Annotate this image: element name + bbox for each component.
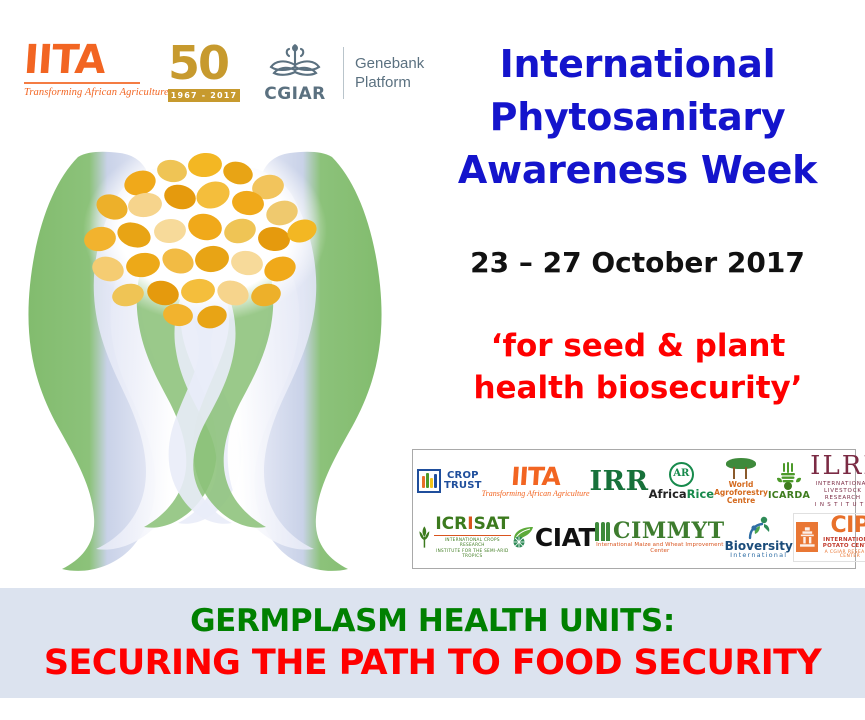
icrisat-part-a: ICR <box>435 514 467 534</box>
anniversary-50-logo: 50 1967 - 2017 <box>168 40 240 106</box>
icrisat-sub2: INSTITUTE FOR THE SEMI-ARID TROPICS <box>436 548 509 558</box>
partner-logo-icarda: ICARDA <box>768 454 810 509</box>
partner-logo-irri: IRR <box>590 454 649 509</box>
poster-canvas: IITA Transforming African Agriculture 50… <box>0 0 865 720</box>
irri-wordmark: IRR <box>590 468 649 495</box>
tagline-line-2: health biosecurity’ <box>412 367 864 409</box>
world-agroforestry-label: World Agroforestry Centre <box>714 481 768 505</box>
cimmyt-subtitle: International Maize and Wheat Improvemen… <box>595 543 725 554</box>
cgiar-divider <box>343 47 344 99</box>
iita-underline-rule <box>24 82 140 84</box>
partner-logo-cimmyt: CIMMYT International Maize and Wheat Imp… <box>595 510 725 565</box>
headline-line-3: Awareness Week <box>410 144 865 197</box>
iita-wordmark: IITA <box>23 40 144 80</box>
bottom-banner: GERMPLASM HEALTH UNITS: SECURING THE PAT… <box>0 588 865 698</box>
poster-tagline: ‘for seed & plant health biosecurity’ <box>412 325 864 409</box>
icrisat-wordmark: ICRISAT <box>435 516 509 533</box>
iita-logo: IITA Transforming African Agriculture <box>24 40 142 102</box>
cip-research-center-label: A CGIAR RESEARCH CENTER <box>820 551 865 560</box>
ilri-sub2: LIVESTOCK RESEARCH <box>824 488 862 501</box>
partner-logo-ciat: CIAT <box>511 510 595 565</box>
partner-logos-panel: CROP TRUST IITA Transforming African Agr… <box>412 449 856 569</box>
icrisat-sub1: INTERNATIONAL CROPS RESEARCH <box>445 537 500 547</box>
headline-line-2: Phytosanitary <box>410 91 865 144</box>
partner-logo-iita: IITA Transforming African Agriculture <box>482 454 590 509</box>
icarda-wheat-icon <box>776 462 802 490</box>
cgiar-genebank-platform-logo: CGIAR Genebank Platform <box>258 40 424 106</box>
icarda-wordmark: ICARDA <box>768 491 810 501</box>
ilri-sub3: I N S T I T U T E <box>815 502 865 508</box>
bioversity-line2: International <box>730 552 787 559</box>
cip-wordmark: CIP <box>830 515 865 537</box>
africa-rice-icon: AR <box>669 462 694 487</box>
bioversity-line1: Bioversity <box>725 540 793 552</box>
waf-line3: Centre <box>727 496 755 505</box>
banner-line-1: GERMPLASM HEALTH UNITS: <box>190 601 675 641</box>
cip-sub1: INTERNATIONAL <box>823 537 865 543</box>
iita-partner-wordmark: IITA <box>510 465 561 489</box>
crop-trust-icon <box>417 469 441 493</box>
cgiar-wheat-icon <box>269 43 321 83</box>
africa-rice-label: AfricaRice <box>649 489 715 501</box>
anniversary-years: 1967 - 2017 <box>168 89 240 102</box>
ilri-sub1: INTERNATIONAL <box>816 481 865 487</box>
ciat-leaf-globe-icon <box>511 526 535 548</box>
partner-logo-icrisat: ICRISAT INTERNATIONAL CROPS RESEARCH INS… <box>417 510 511 565</box>
cimmyt-wordmark: CIMMYT <box>613 520 725 542</box>
headline-line-1: International <box>410 38 865 91</box>
partner-logo-crop-trust: CROP TRUST <box>417 454 482 509</box>
cupped-hands-maize-illustration <box>0 135 410 585</box>
acacia-tree-icon <box>724 458 758 480</box>
partner-logo-world-agroforestry: World Agroforestry Centre <box>714 454 768 509</box>
top-logo-strip: IITA Transforming African Agriculture 50… <box>0 0 410 130</box>
anniversary-number: 50 <box>168 40 240 86</box>
cip-subtitle: INTERNATIONAL POTATO CENTER <box>823 537 865 550</box>
tagline-line-1: ‘for seed & plant <box>412 325 864 367</box>
ilri-subtitle: INTERNATIONAL LIVESTOCK RESEARCH I N S T… <box>810 481 865 509</box>
icrisat-sorghum-icon <box>417 524 432 550</box>
poster-headline: International Phytosanitary Awareness We… <box>410 38 865 197</box>
cgiar-wordmark: CGIAR <box>264 84 326 104</box>
cgiar-mark: CGIAR <box>258 43 332 104</box>
cip-sub2: POTATO CENTER <box>823 543 865 549</box>
partner-logo-africa-rice: AR AfricaRice <box>649 454 715 509</box>
partner-logo-bioversity: Bioversity International <box>725 510 793 565</box>
event-dates: 23 – 27 October 2017 <box>410 246 865 280</box>
ciat-wordmark: CIAT <box>535 525 595 550</box>
partner-logo-row-1: CROP TRUST IITA Transforming African Agr… <box>417 453 851 509</box>
cimmyt-maize-icon <box>595 522 610 541</box>
crop-trust-line2: TRUST <box>444 481 482 491</box>
banner-line-2: SECURING THE PATH TO FOOD SECURITY <box>44 641 821 685</box>
hands-and-kernels-graphic <box>0 135 410 585</box>
icrisat-subtitle: INTERNATIONAL CROPS RESEARCH INSTITUTE F… <box>434 535 511 558</box>
africa-rice-word2: Rice <box>687 487 714 501</box>
bioversity-person-plant-icon <box>746 516 772 540</box>
africa-rice-word1: Africa <box>649 487 687 501</box>
iita-tagline: Transforming African Agriculture <box>24 87 142 98</box>
cip-inca-emblem-icon <box>796 522 819 552</box>
partner-logo-row-2: ICRISAT INTERNATIONAL CROPS RESEARCH INS… <box>417 509 851 565</box>
partner-logo-ilri: ILRI INTERNATIONAL LIVESTOCK RESEARCH I … <box>810 454 865 509</box>
ilri-wordmark: ILRI <box>810 453 865 479</box>
icrisat-part-c: SAT <box>474 514 510 534</box>
partner-logo-cip: CIP INTERNATIONAL POTATO CENTER A CGIAR … <box>793 510 865 565</box>
